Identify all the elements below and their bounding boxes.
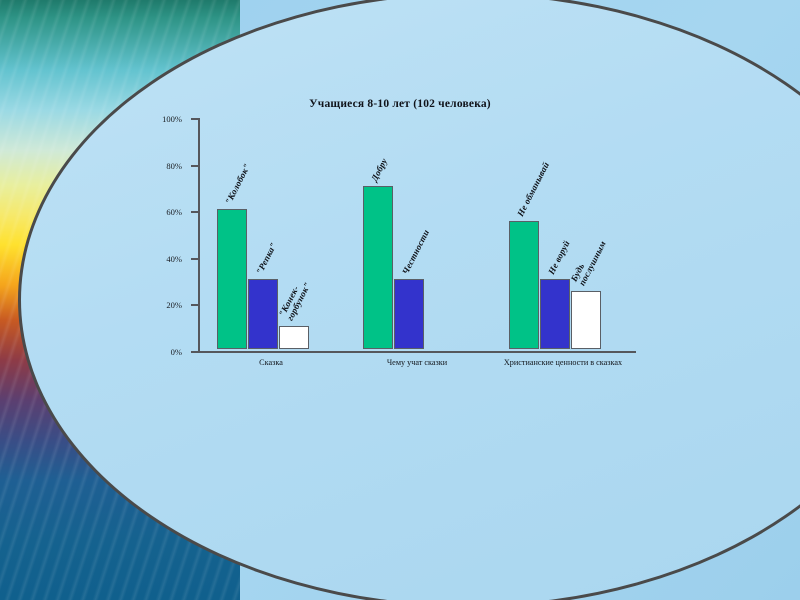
chart-title: Учащиеся 8-10 лет (102 человека) [150, 98, 650, 110]
y-axis-tick-label: 0% [171, 347, 182, 357]
bar-value-label: Будь послушным [570, 233, 610, 288]
y-axis-tick-label: 100% [162, 114, 182, 124]
bar-group: Не обманывайНе воруйБудь послушным [509, 116, 601, 349]
x-axis-line [198, 351, 636, 353]
x-axis-category-label: Сказка [198, 358, 344, 368]
bar[interactable]: Честности [394, 279, 424, 349]
bar-value-label: Не обманывай [515, 160, 551, 218]
bar[interactable]: "Колобок" [217, 209, 247, 349]
bar[interactable]: Добру [363, 186, 393, 349]
x-axis-category-label: Христианские ценности в сказках [490, 358, 636, 368]
bar-value-label: "Конек-горбунок" [278, 268, 318, 323]
bar-group: ДобруЧестности [363, 116, 455, 349]
presentation-slide: Учащиеся 8-10 лет (102 человека) 0%20%40… [0, 0, 800, 600]
bar-value-label: Добру [369, 157, 389, 183]
y-axis-tick-label: 60% [166, 207, 182, 217]
y-axis-tick: 20% [191, 304, 199, 306]
bar-chart: Учащиеся 8-10 лет (102 человека) 0%20%40… [150, 98, 650, 398]
bar[interactable]: Не воруй [540, 279, 570, 349]
y-axis-tick: 40% [191, 258, 199, 260]
y-axis-tick: 100% [191, 118, 199, 120]
y-axis-tick: 80% [191, 165, 199, 167]
bar[interactable]: Не обманывай [509, 221, 539, 349]
y-axis-tick-label: 20% [166, 300, 182, 310]
bar[interactable]: "Конек-горбунок" [279, 326, 309, 349]
bar-value-label: "Репка" [254, 241, 279, 276]
y-axis-tick: 60% [191, 211, 199, 213]
bar[interactable]: "Репка" [248, 279, 278, 349]
y-axis-tick-label: 80% [166, 161, 182, 171]
plot-area: 0%20%40%60%80%100% "Колобок""Репка""Коне… [198, 118, 636, 351]
y-axis-tick-label: 40% [166, 254, 182, 264]
bar-value-label: "Колобок" [223, 162, 252, 206]
y-axis-line [198, 118, 200, 352]
y-axis-tick: 0% [191, 351, 199, 353]
bar-group: "Колобок""Репка""Конек-горбунок" [217, 116, 309, 349]
bar-value-label: Честности [400, 228, 431, 276]
bar-value-label: Не воруй [546, 239, 572, 276]
x-axis-category-label: Чему учат сказки [344, 358, 490, 368]
bar[interactable]: Будь послушным [571, 291, 601, 349]
